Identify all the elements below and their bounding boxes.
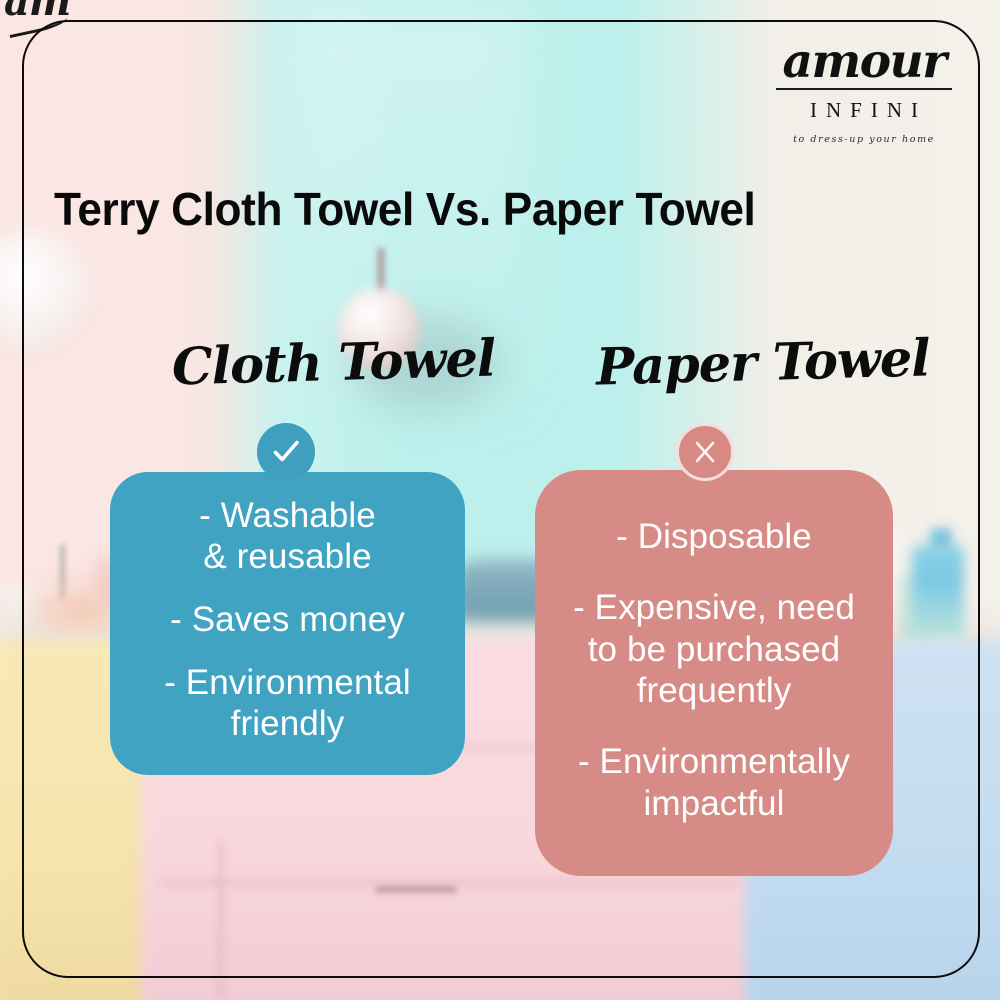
- x-icon: [690, 437, 720, 467]
- card-cloth-towel: - Washable& reusable - Saves money - Env…: [110, 472, 465, 775]
- background-drawer-seam: [218, 840, 224, 1000]
- card-point: - Environmentalfriendly: [124, 663, 451, 745]
- background-bottle-cap: [930, 528, 952, 550]
- card-point: - Washable& reusable: [124, 496, 451, 578]
- check-badge: [257, 423, 315, 481]
- column-heading-paper: Paper Towel: [595, 328, 930, 397]
- card-point: - Environmentallyimpactful: [551, 741, 877, 824]
- page-title: Terry Cloth Towel Vs. Paper Towel: [54, 185, 755, 233]
- check-icon: [269, 435, 303, 469]
- brand-name: amour: [764, 38, 964, 85]
- background-drawer-handle: [375, 886, 457, 893]
- brand-tagline: to dress-up your home: [764, 134, 964, 145]
- card-point: - Expensive, needto be purchasedfrequent…: [551, 587, 877, 711]
- infographic-canvas: am amour INFINI to dress-up your home Te…: [0, 0, 1000, 1000]
- card-paper-towel: - Disposable - Expensive, needto be purc…: [535, 470, 893, 876]
- brand-subname: INFINI: [764, 98, 964, 123]
- column-heading-cloth: Cloth Towel: [171, 328, 496, 397]
- brand-logo: amour INFINI to dress-up your home: [764, 38, 964, 145]
- cross-badge: [676, 423, 734, 481]
- card-point: - Disposable: [551, 516, 877, 557]
- background-drawer-seam: [160, 880, 740, 885]
- background-bottle: [912, 545, 964, 640]
- card-point: - Saves money: [124, 600, 451, 641]
